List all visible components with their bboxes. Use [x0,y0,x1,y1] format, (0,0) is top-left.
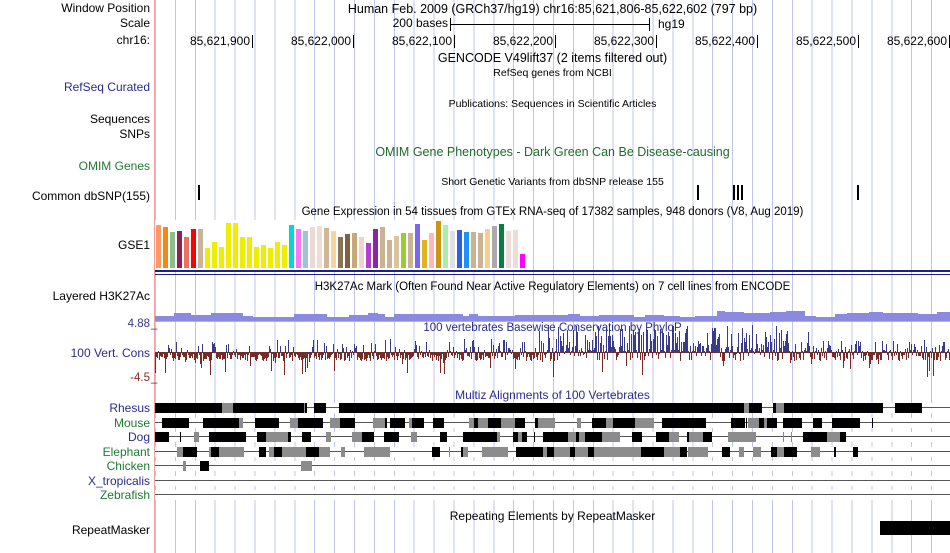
ruler-coordinate-label: 85,622,300 [594,34,654,48]
multiz-alignment-block [577,418,581,428]
conservation-bar [924,340,925,352]
multiz-alignment-block [638,403,648,413]
conservation-bar [599,353,600,360]
gtex-bar[interactable] [359,237,365,268]
conservation-bar [186,353,187,360]
gtex-bar[interactable] [261,245,267,269]
multiz-alignment-block [534,432,535,442]
conservation-bar [842,350,843,352]
multiz-alignment-block [162,418,175,428]
conservation-bar [495,353,496,356]
gtex-bar[interactable] [324,228,330,268]
gtex-bar[interactable] [163,227,169,268]
gtex-bar[interactable] [485,229,491,268]
conservation-bar [474,347,475,352]
conservation-bar [538,353,539,355]
conservation-bar [167,353,168,357]
dbsnp-variant-ticks[interactable] [0,185,950,201]
dbsnp-tick[interactable] [733,185,735,200]
gtex-bar[interactable] [513,230,519,268]
multiz-row-zebrafish[interactable] [155,490,950,500]
ruler-tick [858,35,859,48]
multiz-alignment-block [791,432,792,442]
gtex-bar[interactable] [184,237,190,268]
conservation-bar [404,350,405,352]
conservation-bar [158,351,159,353]
multiz-alignment-block [183,461,186,471]
species-label-dog[interactable]: Dog [0,431,150,444]
multiz-alignment-block [898,403,906,413]
conservation-bar [525,351,526,352]
multiz-alignment-block [813,418,821,428]
gtex-bar[interactable] [401,233,407,268]
dbsnp-tick[interactable] [198,185,200,200]
h3k27ac-signal-segment [492,316,515,321]
conservation-bar [604,353,605,359]
multiz-alignment-block [380,447,390,457]
conservation-bar [896,353,897,355]
conservation-bar [580,353,581,356]
conservation-bar [747,349,748,352]
conservation-bar [851,345,852,352]
gtex-bar[interactable] [408,233,414,268]
conservation-bar [740,353,741,361]
h3k27ac-signal-segment [280,317,294,321]
conservation-bar [466,348,467,352]
conservation-bar [721,348,722,352]
conservation-bar [719,334,720,353]
conservation-bar [228,344,229,352]
conservation-bar [631,334,632,352]
track-label-snps[interactable]: SNPs [0,128,150,141]
gtex-bar[interactable] [170,232,176,268]
conservation-bar [838,349,839,352]
ruler-tick [555,35,556,48]
conservation-bar [385,340,386,352]
multiz-alignment-block [718,403,726,413]
multiz-row-dog[interactable] [155,432,950,442]
multiz-alignment-block [498,447,508,457]
conservation-bar [630,353,631,360]
conservation-bar [946,353,947,358]
conservation-bar [861,353,862,358]
track-label-repeatmasker[interactable]: RepeatMasker [0,524,150,537]
gtex-bar[interactable] [373,229,379,268]
gtex-bar[interactable] [345,234,351,268]
conservation-bar [349,353,350,361]
multiz-alignment-block [488,447,498,457]
conservation-bar [504,340,505,352]
gtex-bar[interactable] [394,236,400,268]
gtex-bars [155,220,533,268]
h3k27ac-signal-segment [515,315,540,321]
multiz-alignment-block [803,432,815,442]
multiz-alignment-block [555,432,568,442]
multiz-alignment-block [501,418,515,428]
conservation-bar [659,353,660,354]
conservation-bar [249,346,250,352]
multiz-track-title: Multiz Alignments of 100 Vertebrates [155,388,950,402]
species-label-elephant[interactable]: Elephant [0,446,150,459]
coordinate-ruler[interactable]: 85,621,90085,622,00085,622,10085,622,200… [155,34,950,50]
conservation-bar [743,353,744,360]
multiz-alignment-block [650,447,664,457]
species-label-chicken[interactable]: Chicken [0,460,150,473]
conservation-bar [511,353,512,354]
gtex-bar[interactable] [506,231,512,268]
gtex-bar[interactable] [317,226,323,268]
conservation-bar [948,349,949,352]
gtex-bar[interactable] [338,237,344,268]
conservation-bar [403,353,404,359]
multiz-alignment-block [694,447,708,457]
conservation-bar [523,353,524,357]
multiz-row-chicken[interactable] [155,461,950,471]
multiz-alignment-block [783,432,784,442]
multiz-alignment-block [840,432,846,442]
conservation-bar [748,353,749,356]
multiz-alignment-block [793,447,797,457]
multiz-alignment-block [373,418,385,428]
conservation-bar [564,353,565,354]
multiz-alignment-block [583,403,597,413]
multiz-alignment-block [484,432,497,442]
conservation-bar [413,353,414,356]
gtex-bar[interactable] [450,231,456,268]
h3k27ac-signal-segment [680,317,695,321]
conservation-bar [450,351,451,352]
conservation-bar [425,353,426,357]
conservation-bar [893,341,894,352]
multiz-alignment-block [728,432,740,442]
multiz-alignment-block [733,403,740,413]
conservation-bar [398,353,399,356]
conservation-bar [557,353,558,360]
conservation-bar [490,353,491,368]
multiz-alignment-block [440,432,447,442]
conservation-bar [690,346,691,352]
conservation-bar [925,353,926,360]
multiz-alignment-block [234,432,246,442]
conservation-bar [643,332,644,352]
multiz-alignment-block [722,447,730,457]
conservation-bar [710,353,711,360]
gtex-bar[interactable] [415,224,421,268]
genome-browser-view: Window Position Human Feb. 2009 (GRCh37/… [0,0,950,553]
conservation-bar [831,350,832,352]
conservation-bar [618,353,619,355]
multiz-alignment-block [274,432,288,442]
refseq-track-title: RefSeq genes from NCBI [155,67,950,79]
track-label-gse1[interactable]: GSE1 [0,239,150,252]
multiz-alignment-block [614,447,628,457]
h3k27ac-signal-segment [236,313,243,321]
gtex-bar[interactable] [457,230,463,268]
track-label-vert-cons[interactable]: 100 Vert. Cons [0,347,150,360]
gtex-bar[interactable] [499,224,505,268]
multiz-row-x_tropicalis[interactable] [155,476,950,486]
multiz-alignment-block [827,432,840,442]
dbsnp-tick[interactable] [737,185,739,200]
conservation-bar [657,336,658,353]
multiz-alignment-block [411,432,417,442]
dbsnp-tick[interactable] [697,185,699,200]
multiz-alignment-block [524,418,525,428]
species-label-rhesus[interactable]: Rhesus [0,402,150,415]
gtex-bar[interactable] [289,225,295,268]
conservation-bar [768,342,769,352]
conservation-bar [695,346,696,352]
multiz-alignment-block [165,403,179,413]
gtex-bar[interactable] [240,237,246,268]
conservation-bar [867,351,868,352]
multiz-alignment-block [623,418,635,428]
gtex-bar[interactable] [380,227,386,268]
multiz-alignment-block [390,418,401,428]
conservation-bar [198,346,199,352]
multiz-alignment-block [464,447,468,457]
conservation-bar [233,351,234,352]
h3k27ac-signal-segment [385,317,394,321]
species-label-mouse[interactable]: Mouse [0,417,150,430]
conservation-bar [578,353,579,356]
multiz-alignment-block [222,403,233,413]
conservation-bar [157,353,158,358]
multiz-alignment-block [592,418,606,428]
multiz-alignment-block [748,418,759,428]
multiz-alignment-block [394,432,399,442]
conservation-bar [371,343,372,352]
conservation-bar [701,353,702,356]
multiz-alignment-block [726,403,733,413]
conservation-bar [938,353,939,357]
multiz-alignment-block [575,447,588,457]
gtex-bar[interactable] [443,225,449,268]
multiz-alignment-block [217,418,229,428]
gtex-bar[interactable] [303,231,309,268]
multiz-row-rhesus[interactable] [155,403,950,413]
multiz-alignment-block [183,447,197,457]
gtex-bar[interactable] [366,243,372,268]
assembly-short-label: hg19 [658,17,685,31]
gtex-bar[interactable] [219,247,225,268]
species-label-zebrafish[interactable]: Zebrafish [0,489,150,502]
conservation-bar [932,348,933,352]
gtex-bar[interactable] [436,221,442,268]
conservation-bar [541,341,542,352]
conservation-bar [171,349,172,352]
track-label-omim-genes[interactable]: OMIM Genes [0,160,150,173]
gtex-bar[interactable] [275,242,281,268]
conservation-bar [760,353,761,355]
multiz-alignment-block [306,447,319,457]
conservation-bar [563,333,564,352]
conservation-bar [556,339,557,352]
gtex-bar[interactable] [233,223,239,268]
conservation-bar [792,351,793,352]
gtex-bar[interactable] [492,226,498,268]
conservation-bar [418,353,419,359]
conservation-bar [800,353,801,360]
h3k27ac-signal-segment [805,316,816,321]
conservation-bar [894,353,895,356]
multiz-alignment-block [233,403,246,413]
multiz-alignment-block [833,403,843,413]
conservation-bar [642,353,643,375]
conservation-bar [601,336,602,352]
species-label-x_tropicalis[interactable]: X_tropicalis [0,475,150,488]
h3k27ac-signal-segment [540,315,550,321]
h3k27ac-signal-segment [786,311,805,321]
gtex-bar[interactable] [254,247,260,268]
h3k27ac-signal-segment [469,314,478,321]
track-label-sequences[interactable]: Sequences [0,113,150,126]
gtex-bar[interactable] [352,233,358,268]
multiz-gap-line [155,494,950,495]
multiz-alignment-block [282,447,292,457]
conservation-bar [416,345,417,352]
multiz-alignment-block [391,403,403,413]
conservation-bar [866,353,867,355]
h3k27ac-signal-segment [744,313,770,321]
gtex-bar[interactable] [268,248,274,268]
conservation-bar [812,353,813,359]
gtex-bar[interactable] [331,231,337,268]
gtex-track-title: Gene Expression in 54 tissues from GTEx … [155,206,950,218]
conservation-bar [176,342,177,352]
conservation-bar [769,353,770,359]
conservation-bar [823,341,824,352]
assembly-position-title: Human Feb. 2009 (GRCh37/hg19) chr16:85,6… [155,2,950,16]
conservation-bar [326,346,327,352]
conservation-bar [892,353,893,360]
multiz-alignment-block [452,403,465,413]
conservation-bar [470,347,471,352]
ruler-coordinate-label: 85,622,400 [695,34,755,48]
multiz-alignment-block [787,418,799,428]
multiz-gap-line [155,480,950,481]
conservation-bar [579,350,580,352]
gtex-bar[interactable] [478,233,484,268]
conservation-bar [862,351,863,352]
multiz-alignment-block [656,432,669,442]
conservation-bar [507,353,508,355]
conservation-bar [311,353,312,355]
conservation-bar [824,353,825,358]
h3k27ac-signal-segment [620,315,634,321]
gtex-bar[interactable] [247,237,253,268]
multiz-alignment-block [776,403,784,413]
gtex-bar[interactable] [422,240,428,268]
multiz-alignment-block [352,432,362,442]
conservation-bar [325,353,326,360]
conservation-bar [395,347,396,352]
multiz-alignment-block [229,418,237,428]
h3k27ac-signal-segment [415,314,439,321]
conservation-min-label: -4.5 [100,372,150,384]
gtex-bar[interactable] [310,227,316,268]
multiz-alignment-block [432,447,440,457]
gtex-bar[interactable] [282,245,288,268]
conservation-bar [420,353,421,355]
multiz-alignment-block [872,418,873,428]
multiz-alignment-block [784,447,793,457]
conservation-bar [774,339,775,352]
gtex-bar[interactable] [156,225,162,268]
conservation-bar [916,353,917,356]
conservation-bar [313,340,314,352]
conservation-bar [293,347,294,352]
conservation-bar [825,351,826,352]
multiz-alignment-block [326,432,331,442]
conservation-bar [635,332,636,352]
multiz-row-elephant[interactable] [155,447,950,457]
gtex-bar[interactable] [226,223,232,268]
repeatmasker-element[interactable] [880,521,950,535]
multiz-row-mouse[interactable] [155,418,950,428]
conservation-bar [764,353,765,357]
conservation-bar [724,353,725,361]
multiz-alignment-block [430,403,443,413]
conservation-bar [500,351,501,352]
gtex-bar[interactable] [520,254,526,268]
conservation-bar [446,353,447,358]
conservation-bar [307,353,308,368]
conservation-bar [911,344,912,352]
conservation-bar [181,348,182,352]
dbsnp-tick[interactable] [741,185,743,200]
gtex-bar[interactable] [429,233,435,268]
conservation-bar [778,353,779,360]
track-label-refseq-curated[interactable]: RefSeq Curated [0,81,150,94]
gtex-bar[interactable] [191,229,197,268]
gtex-expression-barchart[interactable] [155,220,533,272]
gtex-bar[interactable] [387,240,393,268]
gtex-bar[interactable] [464,232,470,268]
multiz-alignment-block [853,418,860,428]
multiz-alignment-block [465,403,474,413]
multiz-alignment-block [348,403,361,413]
gtex-bar[interactable] [212,242,218,268]
conservation-max-tick: _ [151,318,157,330]
gtex-bar[interactable] [205,248,211,268]
gtex-bar[interactable] [198,229,204,268]
gtex-bar[interactable] [471,232,477,268]
multiz-alignment-block [271,418,279,428]
h3k27ac-signal-segment [327,317,349,321]
gtex-bar[interactable] [177,231,183,268]
gtex-bar[interactable] [296,229,302,268]
multiz-alignment-block [908,403,922,413]
conservation-bar [540,353,541,360]
multiz-alignment-block [209,403,222,413]
h3k27ac-signal-segment [645,315,664,321]
conservation-bar [574,353,575,356]
multiz-alignment-block [703,432,712,442]
conservation-bar [775,353,776,356]
ruler-coordinate-label: 85,621,900 [190,34,250,48]
h3k27ac-signal-segment [568,314,580,321]
h3k27ac-signal-segment [883,313,894,321]
dbsnp-tick[interactable] [857,185,859,200]
h3k27ac-signal-segment [439,314,463,321]
multiz-alignment-block [696,403,704,413]
conservation-track-title: 100 vertebrates Basewise Conservation by… [155,322,950,334]
multiz-alignment-block [608,432,620,442]
ruler-coordinate-label: 85,622,200 [493,34,553,48]
multiz-alignment-block [433,418,444,428]
track-label-layered-h3k27ac[interactable]: Layered H3K27Ac [0,290,150,303]
